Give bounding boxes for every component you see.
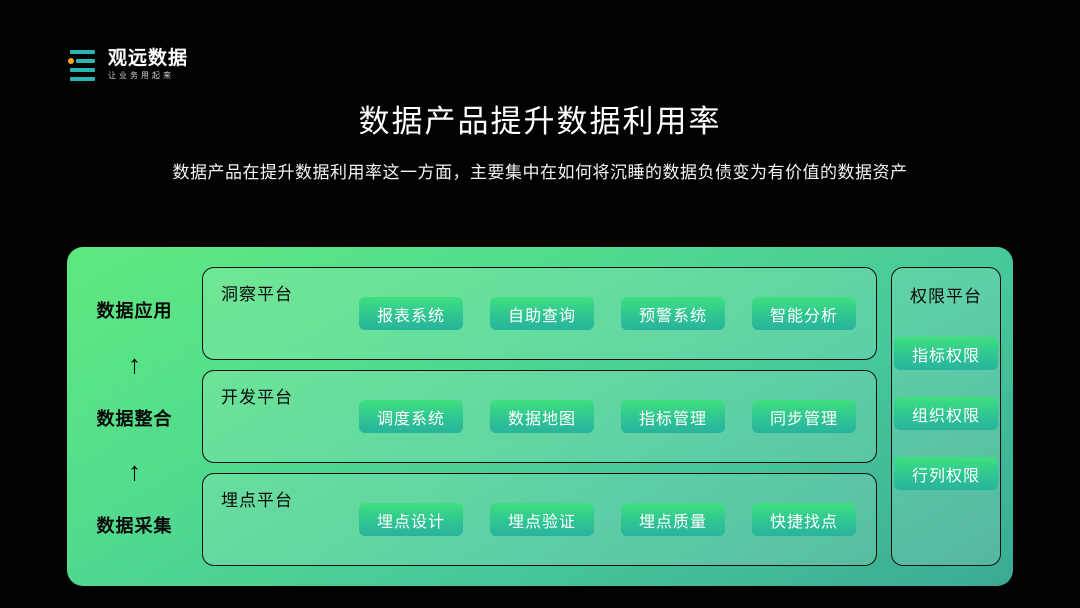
logo-dot-icon	[68, 58, 74, 64]
stage-column: 数据应用 ↑ 数据整合 ↑ 数据采集	[67, 259, 202, 574]
auth-title: 权限平台	[910, 282, 982, 307]
brand-name: 观远数据	[108, 49, 188, 70]
up-arrow-icon: ↑	[128, 458, 141, 484]
chip-item[interactable]: 自助查询	[490, 297, 594, 330]
stage-label-application: 数据应用	[97, 297, 173, 323]
chip-item[interactable]: 埋点设计	[359, 503, 463, 536]
chip-item[interactable]: 数据地图	[490, 400, 594, 433]
row-chip-list: 报表系统 自助查询 预警系统 智能分析	[359, 297, 856, 330]
platform-row-insight[interactable]: 洞察平台 报表系统 自助查询 预警系统 智能分析	[202, 267, 877, 360]
page-subtitle: 数据产品在提升数据利用率这一方面，主要集中在如何将沉睡的数据负债变为有价值的数据…	[0, 158, 1080, 183]
up-arrow-icon: ↑	[128, 351, 141, 377]
logo-bar-2	[76, 59, 95, 63]
slide-root: 观远数据 让业务用起来 数据产品提升数据利用率 数据产品在提升数据利用率这一方面…	[0, 0, 1080, 608]
row-chip-list: 埋点设计 埋点验证 埋点质量 快捷找点	[359, 503, 856, 536]
row-title: 开发平台	[221, 383, 293, 408]
platform-rows: 洞察平台 报表系统 自助查询 预警系统 智能分析 开发平台 调度系统 数据地图 …	[202, 259, 877, 574]
chip-item[interactable]: 调度系统	[359, 400, 463, 433]
chip-item[interactable]: 指标权限	[894, 337, 998, 370]
chip-item[interactable]: 组织权限	[894, 397, 998, 430]
architecture-panel: 数据应用 ↑ 数据整合 ↑ 数据采集 洞察平台 报表系统 自助查询 预警系统 智…	[67, 247, 1013, 586]
chip-item[interactable]: 行列权限	[894, 457, 998, 490]
chip-item[interactable]: 埋点验证	[490, 503, 594, 536]
brand-logo: 观远数据 让业务用起来	[68, 48, 188, 82]
platform-row-development[interactable]: 开发平台 调度系统 数据地图 指标管理 同步管理	[202, 370, 877, 463]
platform-card-permission[interactable]: 权限平台 指标权限 组织权限 行列权限	[891, 267, 1001, 566]
chip-item[interactable]: 预警系统	[621, 297, 725, 330]
chip-item[interactable]: 指标管理	[621, 400, 725, 433]
chip-item[interactable]: 报表系统	[359, 297, 463, 330]
row-title: 洞察平台	[221, 280, 293, 305]
brand-tagline: 让业务用起来	[108, 72, 188, 81]
stage-label-integration: 数据整合	[97, 405, 173, 431]
chip-item[interactable]: 快捷找点	[752, 503, 856, 536]
logo-bar-1	[70, 50, 95, 54]
brand-text: 观远数据 让业务用起来	[108, 49, 188, 81]
bar-chart-logo-icon	[68, 48, 96, 82]
logo-bar-3	[70, 68, 95, 72]
platform-row-tracking[interactable]: 埋点平台 埋点设计 埋点验证 埋点质量 快捷找点	[202, 473, 877, 566]
chip-item[interactable]: 埋点质量	[621, 503, 725, 536]
chip-item[interactable]: 智能分析	[752, 297, 856, 330]
stage-label-collection: 数据采集	[97, 512, 173, 538]
logo-bar-4	[70, 77, 95, 81]
chip-item[interactable]: 同步管理	[752, 400, 856, 433]
auth-chip-list: 指标权限 组织权限 行列权限	[894, 337, 998, 490]
row-title: 埋点平台	[221, 486, 293, 511]
row-chip-list: 调度系统 数据地图 指标管理 同步管理	[359, 400, 856, 433]
page-title: 数据产品提升数据利用率	[0, 96, 1080, 141]
